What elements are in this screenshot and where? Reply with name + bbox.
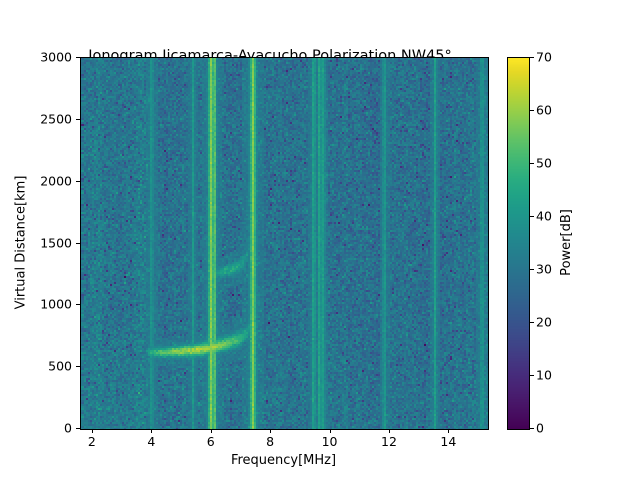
plot-axes — [80, 57, 489, 430]
colorbar-tick-mark — [530, 428, 534, 429]
x-tick-label: 8 — [266, 434, 274, 449]
ionogram-heatmap — [81, 58, 488, 429]
y-tick-mark — [76, 243, 80, 244]
y-tick-label: 2000 — [40, 173, 72, 188]
y-tick-mark — [76, 119, 80, 120]
y-tick-label: 1500 — [40, 235, 72, 250]
colorbar-tick-mark — [530, 110, 534, 111]
x-tick-label: 4 — [147, 434, 155, 449]
y-tick-label: 500 — [48, 359, 72, 374]
x-tick-mark — [92, 429, 93, 433]
x-tick-label: 10 — [322, 434, 338, 449]
colorbar-gradient — [508, 58, 529, 429]
colorbar-label-text: Power[dB] — [559, 209, 574, 276]
colorbar-tick-mark — [530, 269, 534, 270]
colorbar-tick-mark — [530, 322, 534, 323]
x-tick-mark — [389, 429, 390, 433]
x-tick-label: 2 — [88, 434, 96, 449]
y-tick-label: 2500 — [40, 111, 72, 126]
y-tick-mark — [76, 181, 80, 182]
ionogram-figure: Ionogram Jicamarca-Ayacucho Polarization… — [0, 0, 640, 480]
colorbar-tick-mark — [530, 375, 534, 376]
x-tick-mark — [151, 429, 152, 433]
y-tick-mark — [76, 57, 80, 58]
colorbar-tick-label: 0 — [536, 421, 544, 436]
colorbar-label: Power[dB] — [558, 57, 574, 428]
y-tick-mark — [76, 304, 80, 305]
colorbar-tick-label: 20 — [536, 315, 552, 330]
x-tick-label: 6 — [207, 434, 215, 449]
x-tick-label: 14 — [440, 434, 456, 449]
x-tick-label: 12 — [381, 434, 397, 449]
x-tick-mark — [211, 429, 212, 433]
colorbar-tick-label: 60 — [536, 103, 552, 118]
colorbar-tick-label: 50 — [536, 156, 552, 171]
y-tick-mark — [76, 366, 80, 367]
colorbar-tick-label: 30 — [536, 262, 552, 277]
x-tick-mark — [448, 429, 449, 433]
colorbar-tick-mark — [530, 57, 534, 58]
y-axis-label-text: Virtual Distance[km] — [14, 176, 29, 310]
x-tick-mark — [330, 429, 331, 433]
colorbar — [507, 57, 530, 430]
colorbar-tick-mark — [530, 216, 534, 217]
y-axis-label: Virtual Distance[km] — [13, 57, 29, 428]
colorbar-tick-label: 70 — [536, 50, 552, 65]
x-axis-label: Frequency[MHz] — [80, 453, 487, 468]
y-tick-label: 0 — [64, 421, 72, 436]
colorbar-tick-label: 40 — [536, 209, 552, 224]
y-tick-label: 3000 — [40, 50, 72, 65]
y-tick-label: 1000 — [40, 297, 72, 312]
colorbar-tick-mark — [530, 163, 534, 164]
y-tick-mark — [76, 428, 80, 429]
x-tick-mark — [270, 429, 271, 433]
colorbar-tick-label: 10 — [536, 368, 552, 383]
